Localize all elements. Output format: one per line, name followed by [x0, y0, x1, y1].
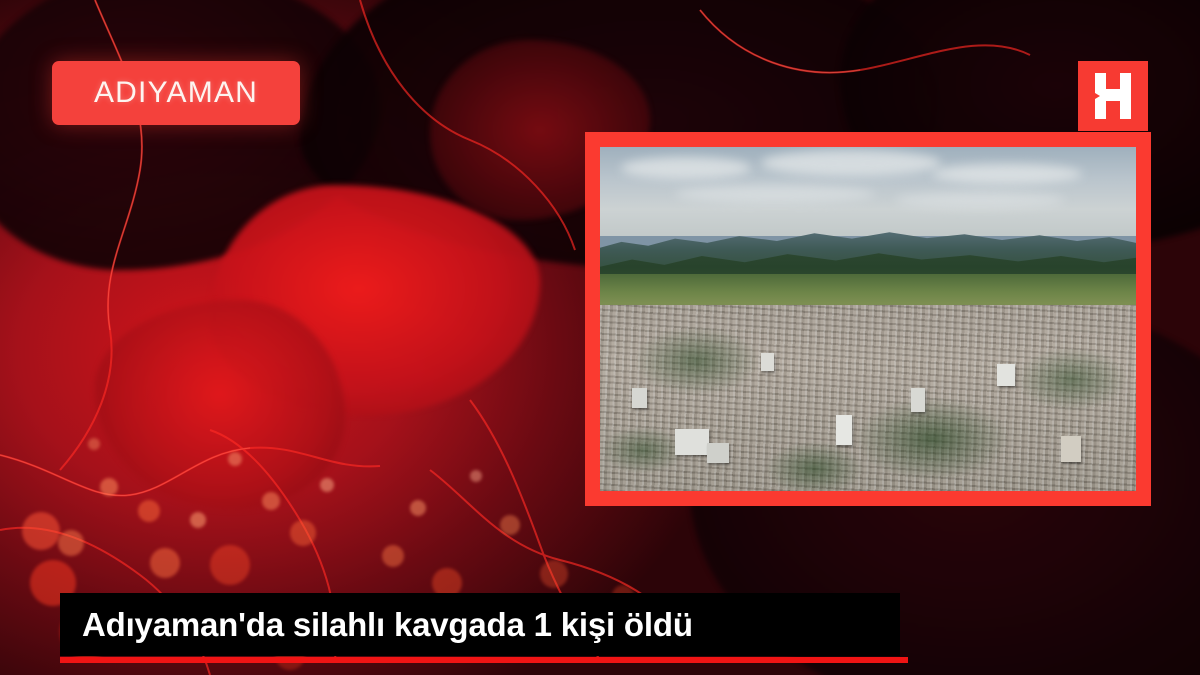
news-card: ADIYAMAN: [0, 0, 1200, 675]
logo-h-icon: [1078, 61, 1148, 131]
headline-underline: [60, 657, 908, 663]
city-badge-label: ADIYAMAN: [94, 76, 258, 110]
publisher-logo[interactable]: [1078, 61, 1148, 131]
city-badge: ADIYAMAN: [52, 61, 300, 125]
news-headline-text: Adıyaman'da silahlı kavgada 1 kişi öldü: [60, 606, 693, 644]
news-photo-frame: [585, 132, 1151, 506]
news-photo: [600, 147, 1136, 491]
news-headline-bar: Adıyaman'da silahlı kavgada 1 kişi öldü: [60, 593, 900, 656]
